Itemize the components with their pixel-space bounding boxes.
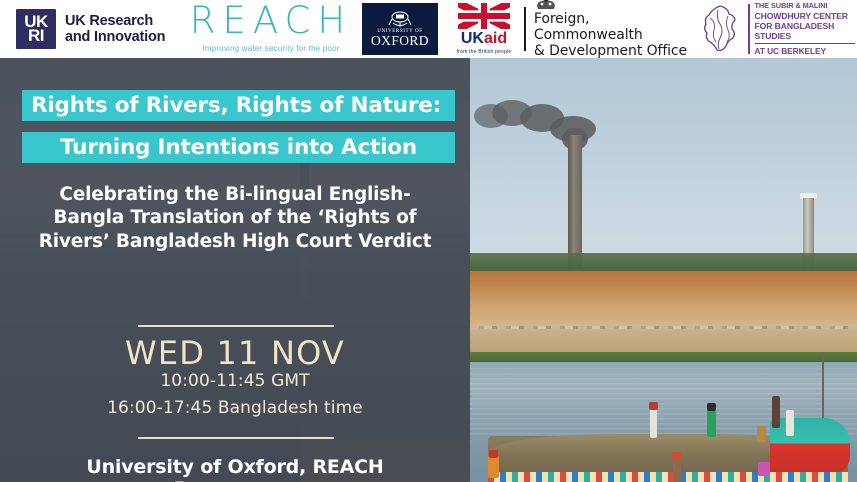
event-time-gmt: 10:00-11:45 GMT	[28, 371, 442, 391]
ukaid-wordmark: UKaid	[461, 31, 507, 47]
berkeley-divider	[748, 4, 750, 54]
ukri-name-line2: and Innovation	[65, 29, 165, 45]
fcdo-divider	[524, 7, 526, 51]
oxford-line2: OXFORD	[371, 34, 429, 49]
event-poster: UK RI UK Research and Innovation REACH I…	[0, 0, 857, 482]
oxford-crest-icon	[387, 11, 413, 28]
ukaid-word-uk: UK	[461, 30, 484, 47]
fcdo-line2: & Development Office	[534, 44, 694, 58]
worker-figure	[650, 408, 657, 438]
worker-figure	[488, 456, 499, 478]
divider-above-date	[138, 325, 334, 327]
cargo-boat-painted-stripe	[488, 472, 848, 482]
ukaid-tagline: from the British people	[457, 49, 512, 55]
ukri-name-line1: UK Research	[65, 13, 165, 29]
reach-tagline: Improving water security for the poor	[202, 44, 339, 53]
worker-figure	[757, 426, 766, 442]
cargo-boat-stern	[770, 418, 850, 474]
title-band-line1: Rights of Rivers, Rights of Nature:	[22, 90, 455, 121]
worker-figure	[786, 410, 794, 436]
logo-ukri: UK RI UK Research and Innovation	[8, 0, 188, 58]
reach-wordmark: REACH	[190, 2, 352, 39]
berkeley-text: THE SUBIR & MALINI CHOWDHURY CENTER FOR …	[755, 2, 855, 56]
worker-head	[707, 403, 716, 411]
worker-head	[672, 452, 681, 460]
royal-crest-icon	[534, 0, 558, 11]
ukri-mark-line2: RI	[28, 29, 44, 43]
berkeley-line4: STUDIES	[755, 31, 855, 41]
sponsor-logo-bar: UK RI UK Research and Innovation REACH I…	[0, 0, 857, 58]
ukri-logomark: UK RI	[16, 9, 56, 49]
poster-photo	[470, 58, 857, 482]
logo-ukaid: UKaid from the British people	[450, 0, 518, 58]
fcdo-name: Foreign, Commonwealth & Development Offi…	[534, 12, 694, 58]
berkeley-rule	[755, 43, 855, 44]
divider-below-time	[138, 437, 334, 439]
logo-fcdo: Foreign, Commonwealth & Development Offi…	[524, 0, 694, 58]
berkeley-line3: FOR BANGLADESH	[755, 21, 855, 31]
boat-mast	[822, 352, 824, 422]
berkeley-line5: AT UC BERKELEY	[755, 46, 855, 56]
worker-figure	[772, 396, 780, 428]
brick-kiln-chimney-main	[568, 135, 582, 270]
event-organiser: University of Oxford, REACH Programme	[28, 456, 442, 482]
event-subtitle: Celebrating the Bi-lingual English-Bangl…	[28, 183, 442, 253]
photo-sky	[470, 58, 857, 266]
logo-university-of-oxford: UNIVERSITY OF OXFORD	[362, 0, 438, 58]
ukaid-word-aid: aid	[484, 30, 507, 47]
logo-reach: REACH Improving water security for the p…	[196, 0, 346, 58]
title-band-line2: Turning Intentions into Action	[22, 132, 455, 163]
smoke-puff	[474, 104, 508, 128]
bangladesh-map-icon	[698, 4, 744, 54]
event-time-local: 16:00-17:45 Bangladesh time	[28, 398, 442, 418]
panel-content: Rights of Rivers, Rights of Nature: Turn…	[0, 58, 470, 482]
berkeley-line1: THE SUBIR & MALINI	[755, 2, 855, 11]
title-line2: Turning Intentions into Action	[60, 135, 417, 160]
fcdo-inner: Foreign, Commonwealth & Development Offi…	[534, 0, 694, 58]
event-date: WED 11 NOV	[28, 334, 442, 372]
photo-brickyard	[470, 271, 857, 329]
ukri-wordmark: UK Research and Innovation	[65, 13, 165, 45]
worker-head	[649, 402, 658, 410]
worker-figure	[758, 462, 770, 476]
title-line1: Rights of Rivers, Rights of Nature:	[31, 93, 441, 118]
worker-figure	[707, 410, 716, 437]
berkeley-line2: CHOWDHURY CENTER	[755, 11, 855, 21]
worker-head	[489, 450, 498, 458]
worker-figure	[673, 458, 681, 482]
oxford-logo-box: UNIVERSITY OF OXFORD	[362, 3, 438, 55]
union-jack-icon	[458, 3, 510, 29]
fcdo-line1: Foreign, Commonwealth	[534, 12, 694, 44]
poster-body: Rights of Rivers, Rights of Nature: Turn…	[0, 58, 857, 482]
logo-chowdhury-center: THE SUBIR & MALINI CHOWDHURY CENTER FOR …	[698, 0, 857, 58]
poster-text-panel: Rights of Rivers, Rights of Nature: Turn…	[0, 58, 470, 482]
